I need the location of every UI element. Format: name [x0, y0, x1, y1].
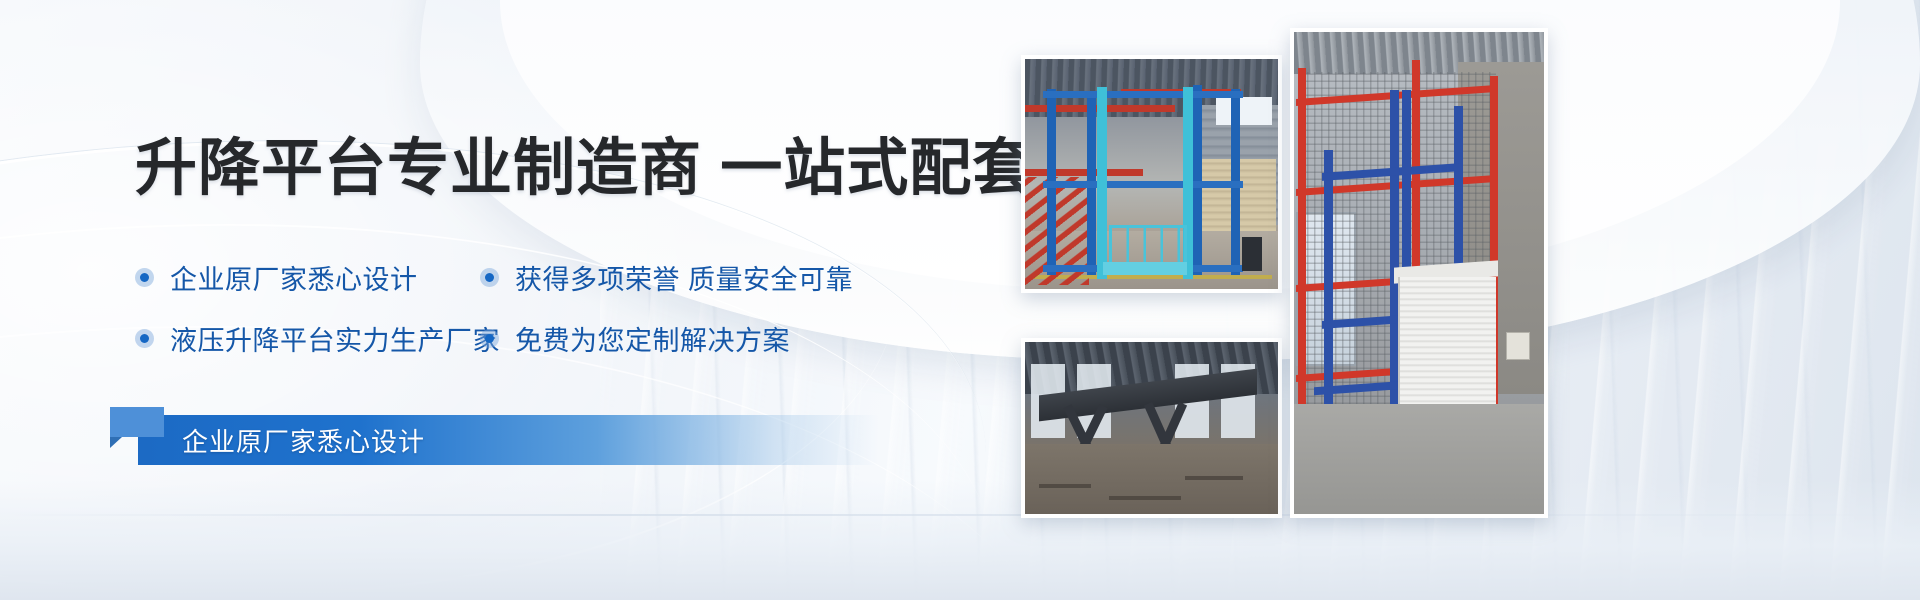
photo-guide-rail-cargo-lift	[1290, 28, 1548, 518]
headline-title: 升降平台专业制造商 一站式配套服务	[135, 117, 1161, 207]
ribbon-tab-icon	[110, 407, 164, 437]
promo-banner: 升降平台专业制造商 一站式配套服务 企业原厂家悉心设计 获得多项荣誉 质量安全可…	[0, 0, 1920, 600]
bullet-dot-icon	[480, 268, 499, 287]
highlight-ribbon: 企业原厂家悉心设计	[138, 415, 878, 465]
photo-mezzanine-rack-lift	[1021, 55, 1282, 293]
bullet-item-honors: 获得多项荣誉 质量安全可靠	[480, 258, 853, 297]
feature-bullet-list: 企业原厂家悉心设计 获得多项荣誉 质量安全可靠 液压升降平台实力生产厂家 免费为…	[135, 258, 1035, 380]
bullet-label: 企业原厂家悉心设计	[170, 258, 418, 297]
photo-scissor-lift	[1021, 338, 1282, 518]
bullet-row-2: 液压升降平台实力生产厂家 免费为您定制解决方案	[135, 319, 1035, 358]
bullet-label: 液压升降平台实力生产厂家	[170, 319, 500, 358]
bullet-item-design: 企业原厂家悉心设计	[135, 258, 480, 297]
bullet-label: 免费为您定制解决方案	[515, 319, 790, 358]
bullet-item-manufacturer: 液压升降平台实力生产厂家	[135, 319, 480, 358]
bullet-row-1: 企业原厂家悉心设计 获得多项荣誉 质量安全可靠	[135, 258, 1035, 297]
bullet-dot-icon	[135, 329, 154, 348]
banner-text-content: 升降平台专业制造商 一站式配套服务 企业原厂家悉心设计 获得多项荣誉 质量安全可…	[0, 0, 1040, 600]
ribbon-label: 企业原厂家悉心设计	[182, 422, 425, 459]
bullet-dot-icon	[135, 268, 154, 287]
bullet-label: 获得多项荣誉 质量安全可靠	[515, 258, 853, 297]
product-photo-collage	[1020, 0, 1920, 600]
bullet-dot-icon	[480, 329, 499, 348]
bullet-item-free-solution: 免费为您定制解决方案	[480, 319, 790, 358]
